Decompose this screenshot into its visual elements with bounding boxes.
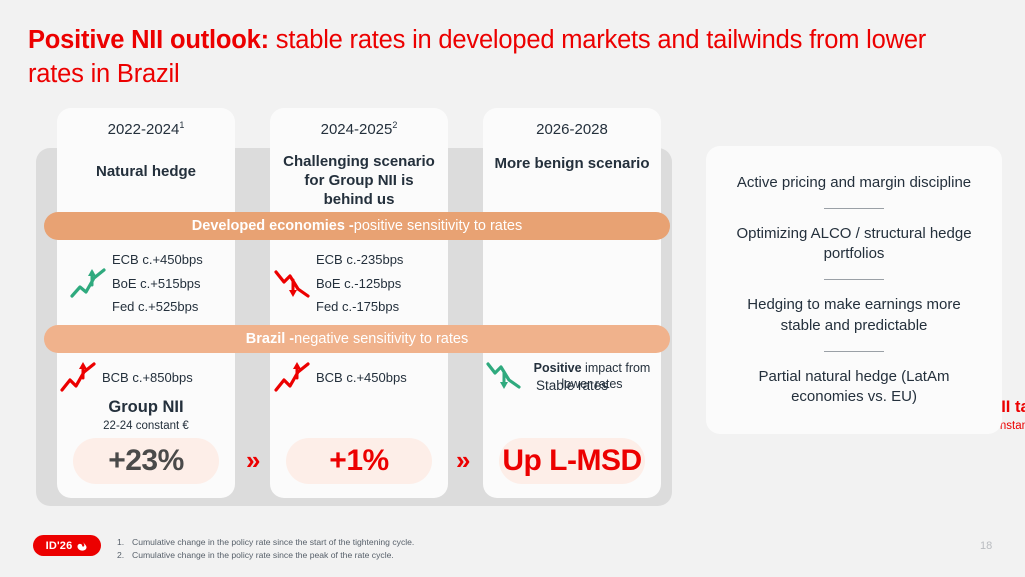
id26-badge: ID'26 bbox=[33, 535, 101, 556]
positive-impact-note: Positive impact from lower rates bbox=[528, 360, 656, 393]
positive-impact-strong: Positive bbox=[534, 361, 582, 375]
chevron-separator-1-icon: » bbox=[246, 445, 260, 476]
band-brazil: Brazil - negative sensitivity to rates bbox=[44, 325, 670, 353]
page-number: 18 bbox=[980, 540, 992, 552]
column-year-label: 2022-20241 bbox=[57, 120, 235, 138]
trend-down-green-icon bbox=[484, 356, 528, 396]
lever-item: Partial natural hedge (LatAm economies v… bbox=[724, 367, 984, 408]
band-developed-strong: Developed economies - bbox=[192, 218, 354, 234]
footnote-text: Cumulative change in the policy rate sin… bbox=[132, 536, 414, 549]
band-developed-rest: positive sensitivity to rates bbox=[354, 218, 522, 234]
rate-line: BCB c.+850bps bbox=[102, 366, 193, 390]
result-pill: +1% bbox=[286, 438, 432, 484]
footnote-number: 2. bbox=[117, 549, 127, 562]
column-year-text: 2024-2025 bbox=[321, 121, 393, 138]
developed-rates-list-col1: ECB c.+450bps BoE c.+515bps Fed c.+525bp… bbox=[112, 248, 203, 319]
group-nii-block: Group NII 22-24 constant € bbox=[57, 398, 235, 435]
column-subtitle: Natural hedge bbox=[57, 162, 235, 181]
column-subtitle: Challenging scenario for Group NII is be… bbox=[270, 152, 448, 210]
brazil-rates-block-col2: BCB c.+450bps bbox=[272, 358, 407, 398]
rate-line: BoE c.+515bps bbox=[112, 272, 203, 296]
santander-flame-icon bbox=[76, 540, 88, 552]
lever-divider bbox=[824, 351, 884, 352]
footnote-row: 1. Cumulative change in the policy rate … bbox=[117, 536, 587, 549]
column-subtitle: More benign scenario bbox=[483, 154, 661, 173]
result-pill: +23% bbox=[73, 438, 219, 484]
band-brazil-strong: Brazil - bbox=[246, 331, 294, 347]
group-nii-label: Group NII bbox=[57, 398, 235, 418]
column-year-text: 2022-2024 bbox=[108, 121, 180, 138]
band-brazil-rest: negative sensitivity to rates bbox=[294, 331, 468, 347]
rate-line: BoE c.-125bps bbox=[316, 272, 403, 296]
brazil-rates-list-col2: BCB c.+450bps bbox=[316, 366, 407, 390]
column-year-label: 2024-20252 bbox=[270, 120, 448, 138]
lever-divider bbox=[824, 208, 884, 209]
column-year-label: 2026-2028 bbox=[483, 120, 661, 138]
lever-item: Hedging to make earnings more stable and… bbox=[724, 295, 984, 336]
developed-rates-block-col2: ECB c.-235bps BoE c.-125bps Fed c.-175bp… bbox=[272, 248, 403, 319]
result-pill: Up L-MSD bbox=[499, 438, 645, 484]
trend-up-red-icon bbox=[272, 358, 316, 398]
rate-line: BCB c.+450bps bbox=[316, 366, 407, 390]
footnote-text: Cumulative change in the policy rate sin… bbox=[132, 549, 394, 562]
column-year-text: 2026-2028 bbox=[536, 121, 608, 138]
lever-item: Active pricing and margin discipline bbox=[733, 173, 975, 193]
rate-line: Fed c.-175bps bbox=[316, 295, 403, 319]
trend-up-red-icon bbox=[58, 358, 102, 398]
group-nii-period: 22-24 constant € bbox=[57, 418, 235, 435]
chevron-separator-2-icon: » bbox=[456, 445, 470, 476]
brazil-impact-block-col3: Positive impact from lower rates bbox=[484, 356, 656, 396]
id26-badge-label: ID'26 bbox=[46, 540, 73, 552]
slide-root: Positive NII outlook: stable rates in de… bbox=[0, 0, 1025, 577]
trend-down-red-icon bbox=[272, 263, 316, 303]
brazil-rates-list-col1: BCB c.+850bps bbox=[102, 366, 193, 390]
developed-rates-block-col1: ECB c.+450bps BoE c.+515bps Fed c.+525bp… bbox=[68, 248, 203, 319]
rate-line: ECB c.-235bps bbox=[316, 248, 403, 272]
rate-line: ECB c.+450bps bbox=[112, 248, 203, 272]
scenario-column-2026-2028: 2026-2028 More benign scenario Group NII… bbox=[483, 108, 661, 498]
levers-panel: Active pricing and margin discipline Opt… bbox=[706, 146, 1002, 434]
page-title: Positive NII outlook: stable rates in de… bbox=[28, 24, 958, 91]
column-year-footnote-ref: 1 bbox=[179, 120, 184, 130]
rate-line: Fed c.+525bps bbox=[112, 295, 203, 319]
developed-rates-list-col2: ECB c.-235bps BoE c.-125bps Fed c.-175bp… bbox=[316, 248, 403, 319]
title-strong: Positive NII outlook: bbox=[28, 26, 269, 54]
lever-item: Optimizing ALCO / structural hedge portf… bbox=[724, 224, 984, 265]
brazil-rates-block-col1: BCB c.+850bps bbox=[58, 358, 193, 398]
trend-up-green-icon bbox=[68, 263, 112, 303]
footnote-row: 2. Cumulative change in the policy rate … bbox=[117, 549, 587, 562]
column-year-footnote-ref: 2 bbox=[392, 120, 397, 130]
lever-divider bbox=[824, 279, 884, 280]
footnote-number: 1. bbox=[117, 536, 127, 549]
footnotes: 1. Cumulative change in the policy rate … bbox=[117, 536, 587, 563]
band-developed-economies: Developed economies - positive sensitivi… bbox=[44, 212, 670, 240]
